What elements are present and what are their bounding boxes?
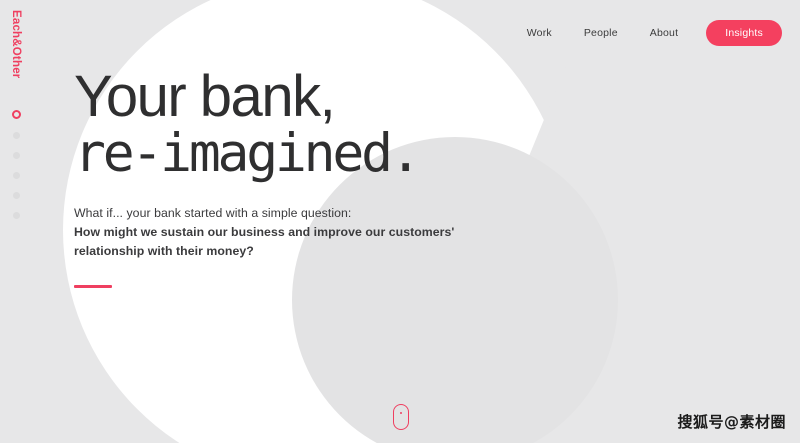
hero-subcopy: What if... your bank started with a simp…	[74, 184, 634, 261]
subcopy-bold-line-2: relationship with their money?	[74, 242, 634, 261]
page-root: Each&Other Work People About Insights Yo…	[0, 0, 800, 443]
mouse-scroll-icon[interactable]	[393, 404, 409, 430]
nav-item-about[interactable]: About	[634, 20, 694, 46]
dot-nav-item-4[interactable]	[13, 172, 20, 179]
hero-section: Your bank, re-imagined. What if... your …	[74, 66, 634, 288]
dot-nav-item-6[interactable]	[13, 212, 20, 219]
watermark-label: 搜狐号@素材圈	[677, 411, 786, 432]
dot-nav-item-5[interactable]	[13, 192, 20, 199]
headline-line-2: re-imagined.	[74, 124, 634, 184]
nav-item-work[interactable]: Work	[511, 20, 568, 46]
page-title: Your bank, re-imagined.	[74, 66, 634, 184]
subcopy-lead-line: What if... your bank started with a simp…	[74, 204, 634, 223]
dot-nav-item-1[interactable]	[12, 110, 21, 119]
nav-cta-insights-button[interactable]: Insights	[706, 20, 782, 46]
brand-logo-text: Each&Other	[9, 10, 21, 78]
headline-line-1: Your bank,	[74, 66, 634, 128]
mouse-wheel-dot	[400, 412, 402, 414]
dot-nav-item-3[interactable]	[13, 152, 20, 159]
brand-logo[interactable]: Each&Other	[2, 10, 28, 100]
main-navigation: Work People About Insights	[511, 20, 782, 46]
dot-nav-item-2[interactable]	[13, 132, 20, 139]
subcopy-bold-line-1: How might we sustain our business and im…	[74, 223, 634, 242]
slide-dot-navigation[interactable]	[9, 110, 23, 232]
nav-item-people[interactable]: People	[568, 20, 634, 46]
accent-rule-divider	[74, 285, 112, 288]
